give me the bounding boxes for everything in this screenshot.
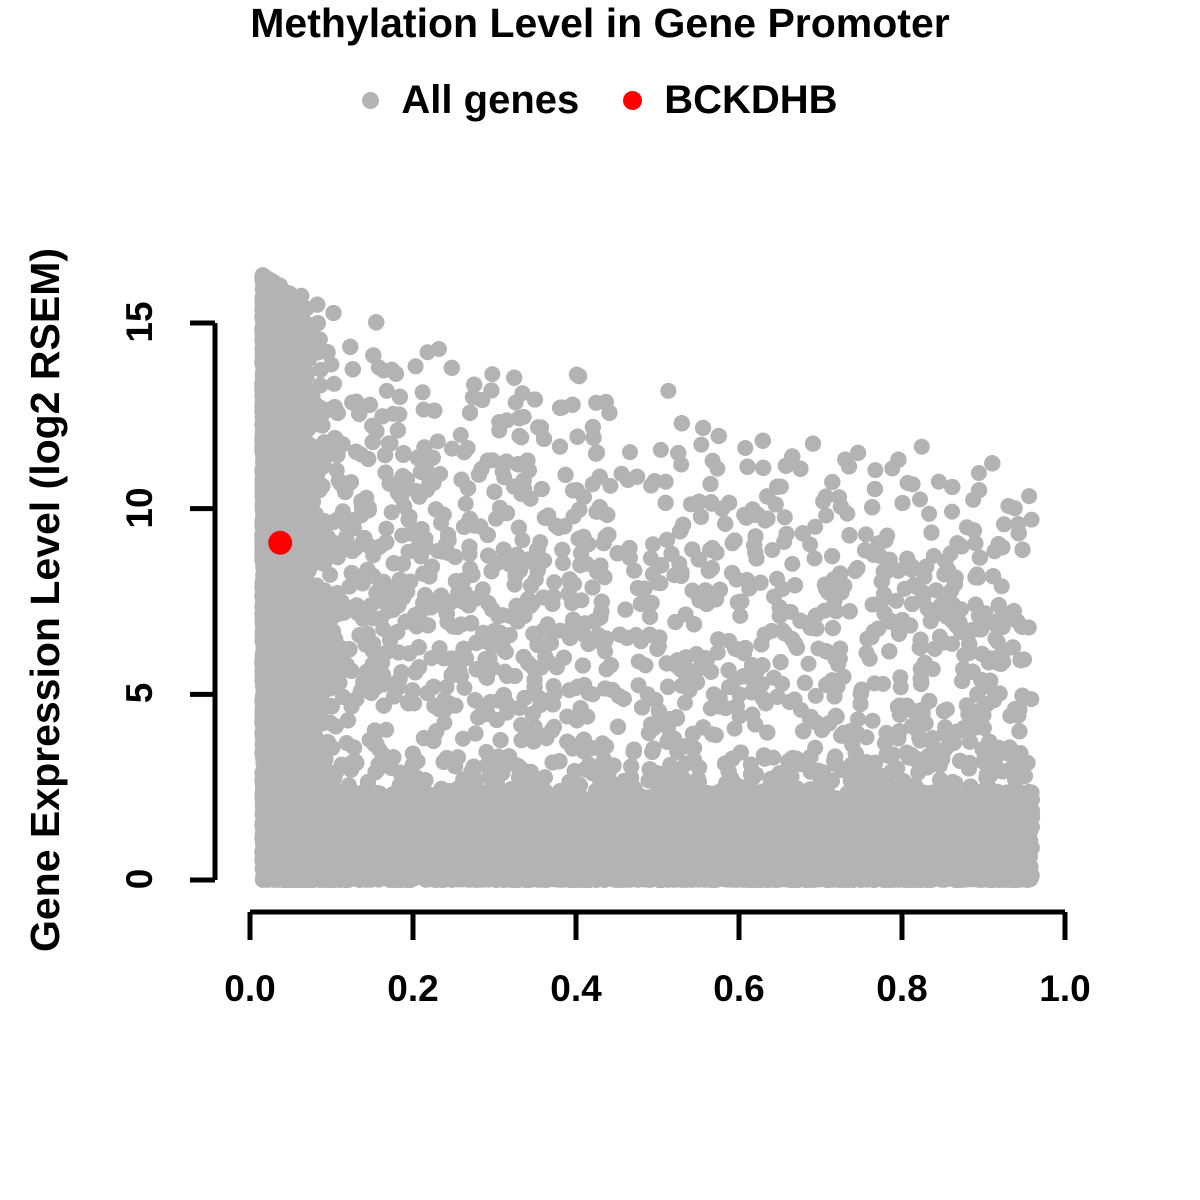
x-tick-label: 0.2	[387, 968, 438, 1010]
y-axis-title-text: Gene Expression Level (log2 RSEM)	[22, 248, 69, 952]
x-tick-label: 0.0	[224, 968, 275, 1010]
x-tick-label: 0.8	[876, 968, 927, 1010]
y-tick-label: 0	[119, 849, 161, 909]
y-tick-label: 5	[119, 663, 161, 723]
scatter-plot-figure: All genes BCKDHB Methylation Level in Ge…	[0, 0, 1200, 1200]
y-tick-label: 15	[119, 292, 161, 352]
y-tick-label: 10	[119, 478, 161, 538]
x-tick-label: 0.4	[550, 968, 601, 1010]
x-tick-label: 0.6	[713, 968, 764, 1010]
y-axis-title: Gene Expression Level (log2 RSEM)	[0, 0, 1200, 1200]
x-tick-label: 1.0	[1039, 968, 1090, 1010]
